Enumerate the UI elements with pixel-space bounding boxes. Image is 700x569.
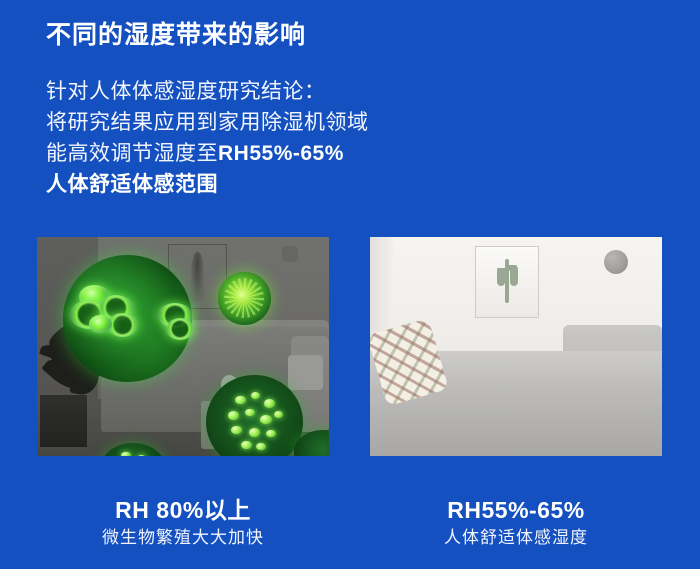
intro-line-2: 将研究结果应用到家用除湿机领域 — [46, 107, 369, 138]
germ-dot-icon — [241, 441, 252, 449]
wall-speaker-icon — [604, 250, 628, 274]
dark-room-scene — [37, 237, 329, 456]
germ-dot-icon — [121, 452, 131, 456]
caption-high-humidity: RH 80%以上 微生物繁殖大大加快 — [37, 495, 329, 551]
caption-comfort-humidity: RH55%-65% 人体舒适体感湿度 — [370, 495, 662, 551]
cactus-arm-icon — [505, 265, 517, 269]
germ-dot-icon — [137, 455, 146, 456]
caption-title: RH55%-65% — [370, 495, 662, 525]
intro-paragraph: 针对人体体感湿度研究结论： 将研究结果应用到家用除湿机领域 能高效调节湿度至RH… — [46, 76, 369, 200]
germ-dot-icon — [249, 428, 261, 437]
germ-dot-icon — [264, 399, 275, 407]
germ-dot-icon — [256, 443, 266, 451]
intro-line-3: 能高效调节湿度至RH55%-65% — [46, 138, 369, 169]
caption-subtitle: 微生物繁殖大大加快 — [37, 525, 329, 551]
panel-image-high-humidity — [37, 237, 329, 456]
caption-title: RH 80%以上 — [37, 495, 329, 525]
bright-room-scene — [370, 237, 662, 456]
germ-dot-icon — [228, 411, 240, 420]
intro-line-3-prefix: 能高效调节湿度至 — [46, 142, 218, 165]
humidity-range-highlight: RH55%-65% — [218, 142, 344, 165]
comparison-panels — [0, 237, 700, 456]
germ-sphere-large-icon — [63, 255, 191, 382]
humidity-comparison-poster: 不同的湿度带来的影响 针对人体体感湿度研究结论： 将研究结果应用到家用除湿机领域… — [0, 0, 700, 569]
germ-dot-icon — [231, 426, 242, 434]
caption-subtitle: 人体舒适体感湿度 — [370, 525, 662, 551]
germ-dot-icon — [266, 430, 276, 438]
page-title: 不同的湿度带来的影响 — [46, 20, 306, 50]
germ-dot-icon — [251, 392, 261, 400]
germ-cell-icon — [166, 318, 194, 340]
germ-dot-icon — [235, 396, 246, 404]
panel-image-comfort-humidity — [370, 237, 662, 456]
germ-sphere-small-icon — [218, 272, 271, 325]
germ-dot-icon — [260, 415, 272, 424]
germ-dot-icon — [245, 409, 255, 417]
intro-line-4: 人体舒适体感范围 — [46, 169, 369, 200]
cactus-poster — [475, 246, 539, 318]
germ-dot-icon — [274, 411, 284, 419]
intro-line-1: 针对人体体感湿度研究结论： — [46, 76, 369, 107]
